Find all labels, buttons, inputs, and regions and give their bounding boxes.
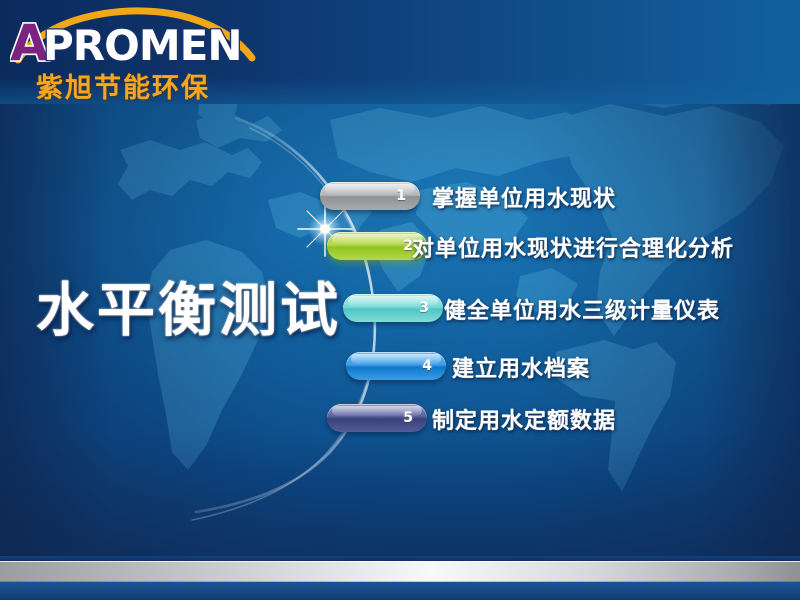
list-item-number: 2	[403, 232, 413, 260]
list-item-label: 健全单位用水三级计量仪表	[444, 293, 720, 325]
list-item-number: 1	[396, 182, 406, 210]
list-item-badge-2[interactable]: 2	[327, 232, 427, 260]
presentation-slide: A PROMEN 紫旭节能环保 水平衡测试	[0, 0, 800, 600]
list-item-label: 制定用水定额数据	[432, 403, 616, 435]
footer-strip	[0, 556, 800, 600]
list-item-badge-3[interactable]: 3	[343, 294, 443, 322]
list-item-label: 掌握单位用水现状	[432, 181, 616, 213]
objectives-list: 1 掌握单位用水现状 2 对单位用水现状进行合理化分析 3 健全单位用水三级计量…	[0, 0, 800, 600]
list-item-badge-1[interactable]: 1	[320, 182, 420, 210]
list-item-number: 4	[422, 352, 432, 380]
list-item-label: 对单位用水现状进行合理化分析	[412, 231, 734, 263]
list-item-label: 建立用水档案	[452, 351, 590, 383]
list-item-number: 5	[403, 404, 413, 432]
footer-blue-band	[0, 582, 800, 600]
list-item-number: 3	[419, 294, 429, 322]
list-item-badge-5[interactable]: 5	[327, 404, 427, 432]
footer-silver-band	[0, 561, 800, 582]
list-item-badge-4[interactable]: 4	[346, 352, 446, 380]
